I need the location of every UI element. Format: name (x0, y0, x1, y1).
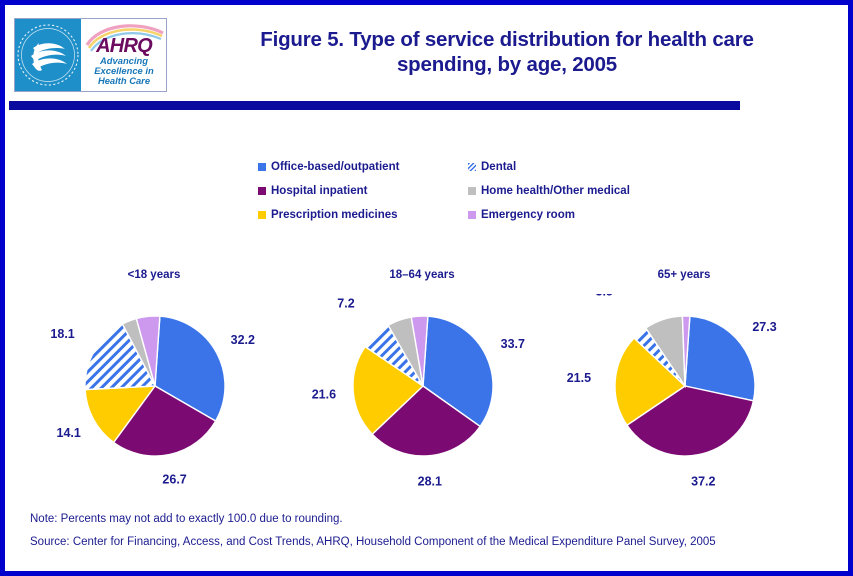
pie-value-label: 7.2 (337, 296, 354, 310)
pie-value-label: 21.5 (567, 371, 591, 385)
pie-chart-row: <18 years 32.226.714.118.13.45.4 18–64 y… (9, 258, 844, 498)
legend-item-home-health-other-medical: Home health/Other medical (468, 179, 630, 203)
pie-graphic: 27.337.221.53.58.91.7 (545, 294, 823, 498)
pie-value-label: 14.1 (57, 426, 81, 440)
svg-text:AHRQ: AHRQ (95, 35, 153, 57)
legend-label: Home health/Other medical (481, 185, 630, 197)
pie-value-label: 33.7 (501, 337, 525, 351)
page-title-line1: Figure 5. Type of service distribution f… (177, 27, 837, 52)
note-rounding: Note: Percents may not add to exactly 10… (30, 508, 830, 531)
pie-chart-under-18: <18 years 32.226.714.118.13.45.4 (15, 258, 293, 498)
page-title-line2: spending, by age, 2005 (177, 52, 837, 77)
figure-notes: Note: Percents may not add to exactly 10… (30, 508, 830, 554)
pie-caption: 18–64 years (283, 269, 561, 281)
legend-swatch-icon (258, 211, 266, 219)
note-source: Source: Center for Financing, Access, an… (30, 531, 830, 554)
page-header: AHRQ Advancing Excellence in Health Care… (9, 9, 844, 101)
legend-label: Hospital inpatient (271, 185, 367, 197)
ahrq-wordmark: AHRQ Advancing Excellence in Health Care (81, 19, 166, 91)
ahrq-logo: AHRQ Advancing Excellence in Health Care (14, 18, 167, 92)
legend-label: Prescription medicines (271, 209, 398, 221)
legend-item-dental: Dental (468, 155, 630, 179)
legend-item-prescription-medicines: Prescription medicines (258, 203, 399, 227)
legend-column-right: Dental Home health/Other medical Emergen… (468, 155, 630, 227)
legend-item-emergency-room: Emergency room (468, 203, 630, 227)
legend-swatch-icon (258, 187, 266, 195)
legend-swatch-icon (468, 211, 476, 219)
pie-value-label: 18.1 (50, 327, 74, 341)
pie-value-label: 3.5 (596, 294, 613, 299)
pie-value-label: 28.1 (418, 475, 442, 489)
legend-item-hospital-inpatient: Hospital inpatient (258, 179, 399, 203)
pie-graphic: 33.728.121.67.25.63.8 (283, 294, 561, 498)
pie-caption: <18 years (15, 269, 293, 281)
legend-swatch-icon (258, 163, 266, 171)
page-title: Figure 5. Type of service distribution f… (177, 27, 837, 77)
legend-label: Dental (481, 161, 516, 173)
pie-value-label: 26.7 (162, 473, 186, 487)
pie-chart-18-64: 18–64 years 33.728.121.67.25.63.8 (283, 258, 561, 498)
legend-item-office-based-outpatient: Office-based/outpatient (258, 155, 399, 179)
pie-value-label: 37.2 (691, 474, 715, 488)
figure-page: AHRQ Advancing Excellence in Health Care… (0, 0, 853, 576)
legend-label: Emergency room (481, 209, 575, 221)
legend-swatch-icon (468, 187, 476, 195)
legend-swatch-hatch-icon (468, 163, 476, 171)
pie-value-label: 32.2 (231, 333, 255, 347)
pie-graphic: 32.226.714.118.13.45.4 (15, 294, 293, 498)
pie-chart-65-plus: 65+ years 27.337.221.53.58.91.7 (545, 258, 823, 498)
legend-label: Office-based/outpatient (271, 161, 399, 173)
hhs-seal-icon (15, 19, 81, 91)
pie-value-label: 27.3 (752, 320, 776, 334)
legend-column-left: Office-based/outpatient Hospital inpatie… (258, 155, 399, 227)
pie-value-label: 21.6 (312, 388, 336, 402)
pie-caption: 65+ years (545, 269, 823, 281)
header-divider-bar (9, 101, 740, 110)
svg-text:Health Care: Health Care (98, 75, 150, 86)
